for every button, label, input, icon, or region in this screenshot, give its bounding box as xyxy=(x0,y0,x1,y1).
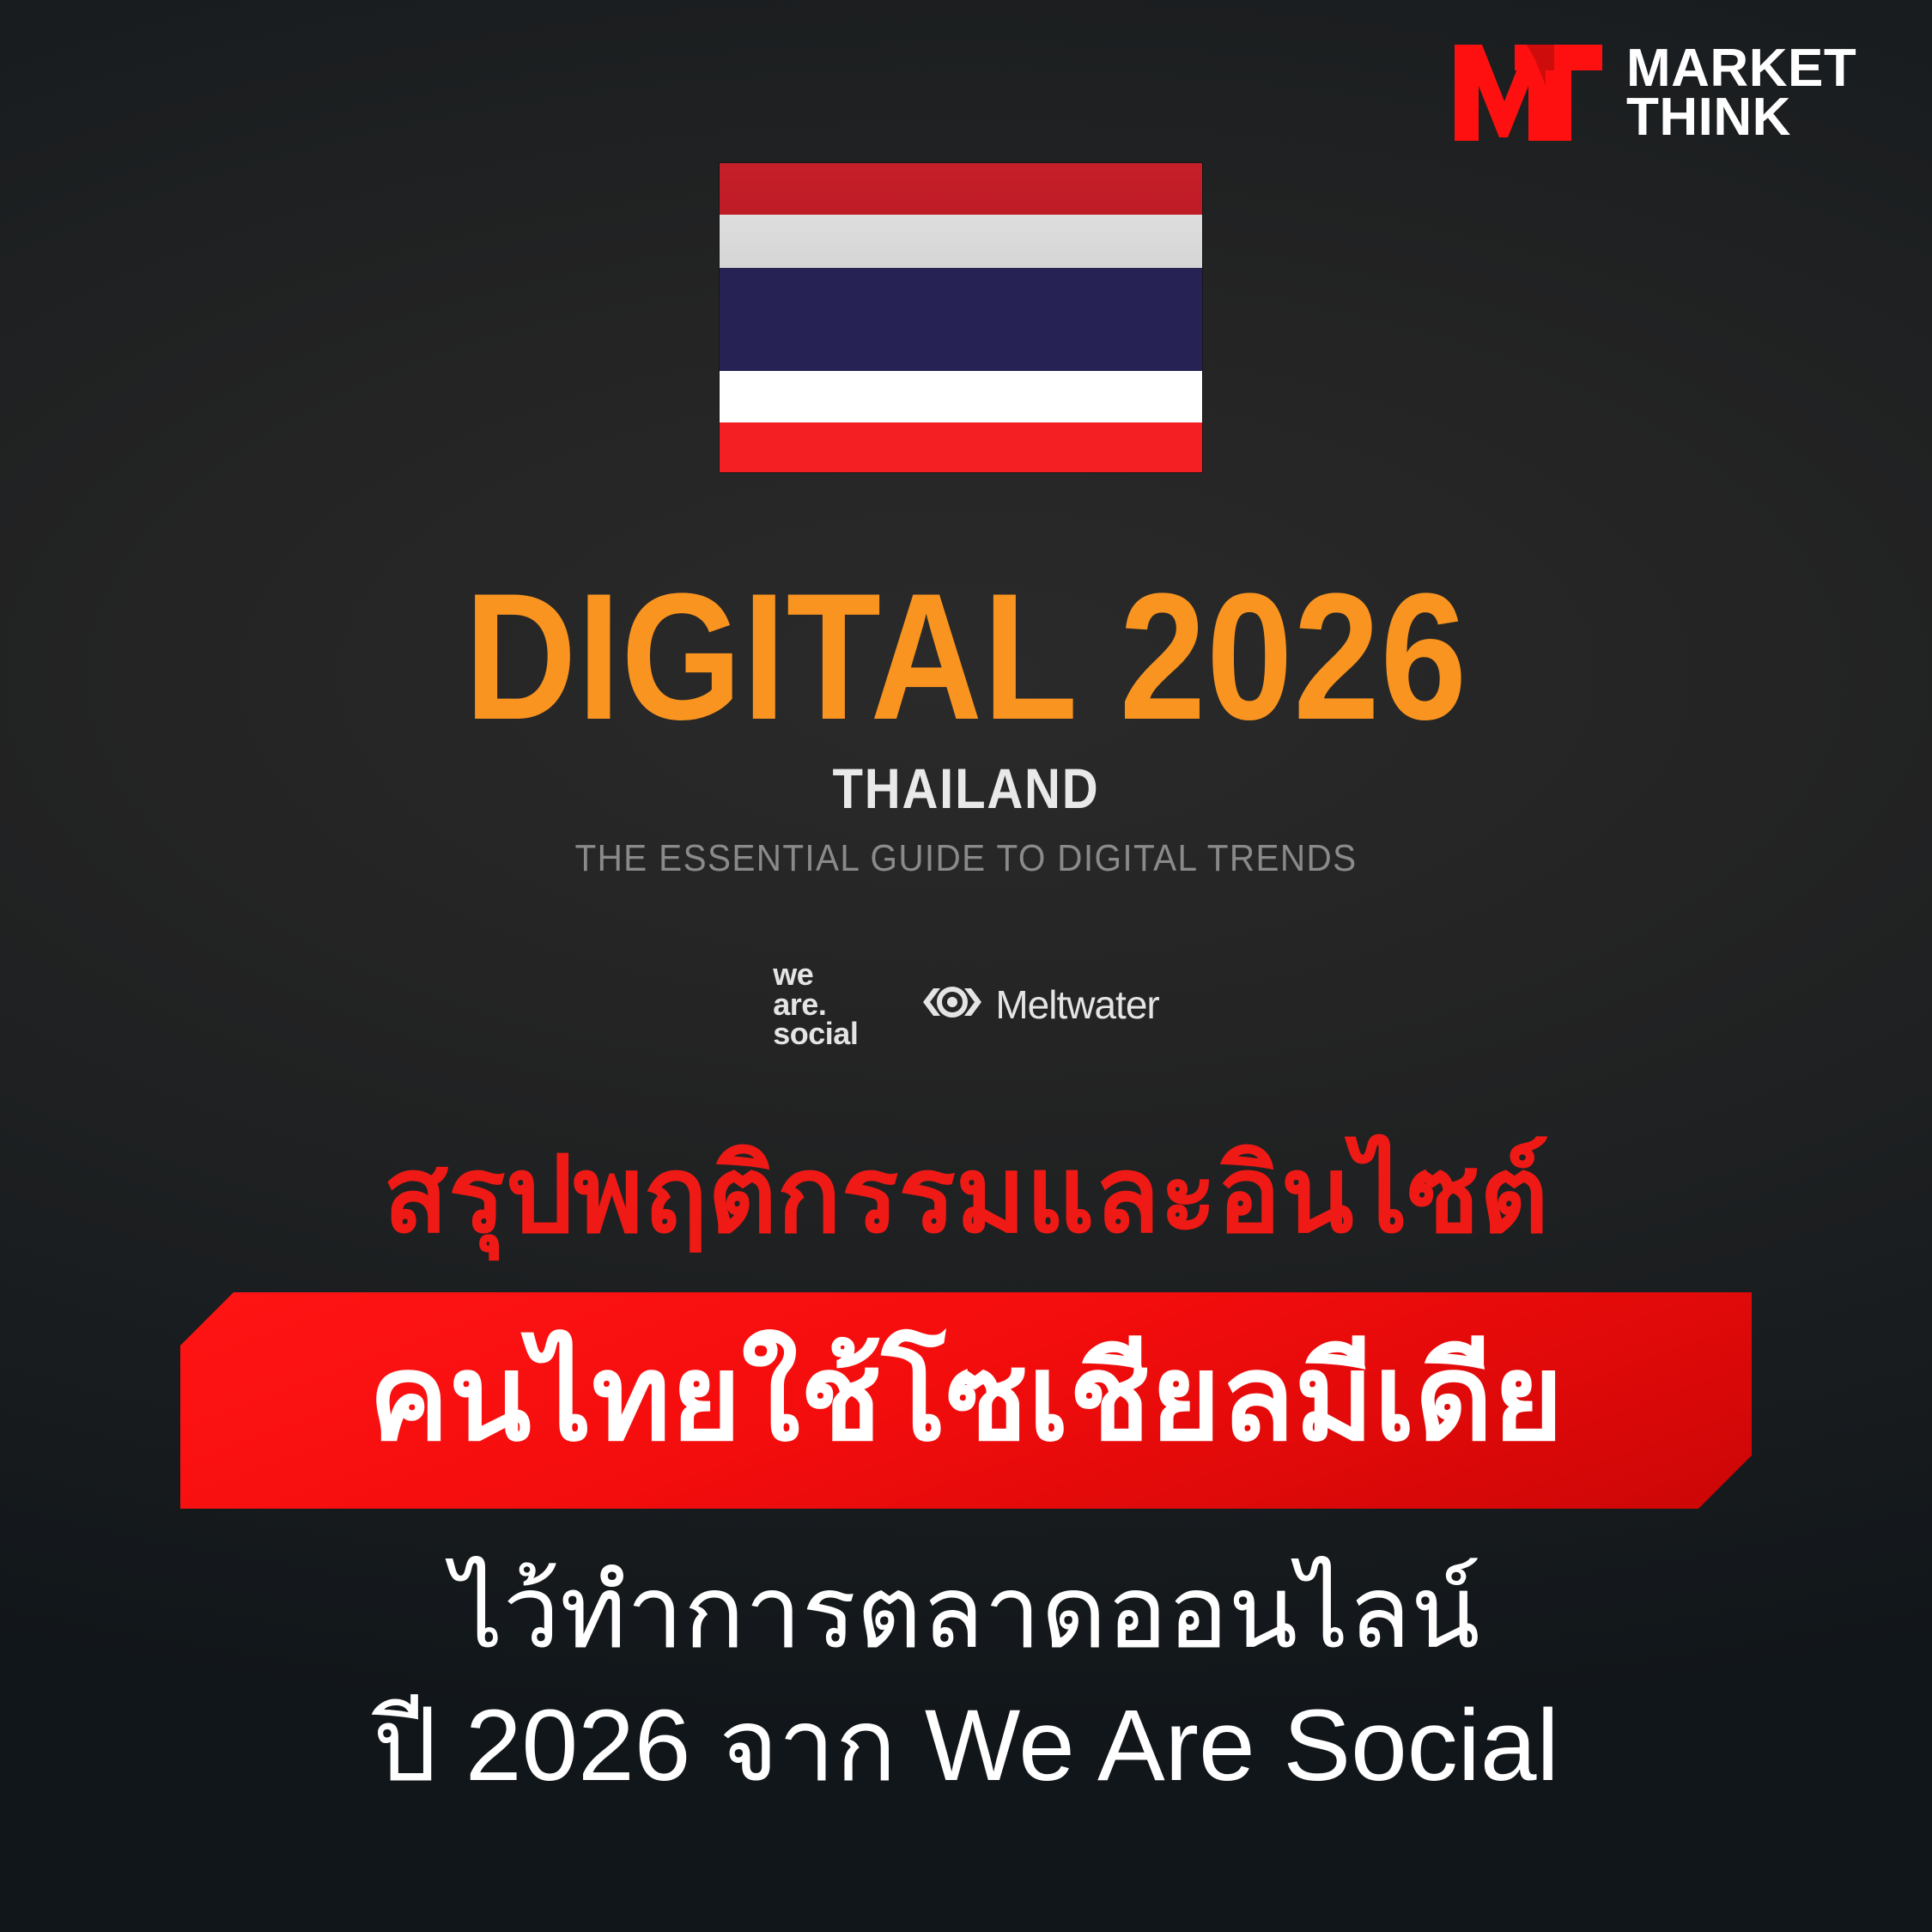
report-title: DIGITAL 2026 xyxy=(136,567,1797,747)
subheadline-line-2: ปี 2026 จาก We Are Social xyxy=(0,1683,1932,1810)
marketthink-logo: MARKET THINK xyxy=(1451,41,1856,144)
report-country: THAILAND xyxy=(116,756,1816,821)
we-are-social-logo: we are. social xyxy=(773,960,858,1049)
partner-logos-row: we are. social Meltwater xyxy=(0,960,1932,1049)
headline-red-line: สรุปพฤติกรรมและอินไซต์ xyxy=(0,1132,1932,1260)
flag-stripe-red-top xyxy=(720,163,1202,215)
was-line-2: are. xyxy=(773,990,858,1020)
flag-stripe-white-bottom xyxy=(720,371,1202,422)
marketthink-wordmark: MARKET THINK xyxy=(1626,44,1856,142)
brand-name-line-1: MARKET xyxy=(1626,44,1856,93)
flag-stripe-white-top xyxy=(720,215,1202,268)
flag-stripe-navy xyxy=(720,268,1202,371)
mt-monogram-icon xyxy=(1451,41,1606,144)
poster-canvas: MARKET THINK DIGITAL 2026 THAILAND THE E… xyxy=(0,0,1932,1932)
was-line-3: social xyxy=(773,1019,858,1049)
meltwater-eye-icon xyxy=(920,985,985,1024)
brand-name-line-2: THINK xyxy=(1626,93,1856,142)
meltwater-logo: Meltwater xyxy=(920,981,1158,1028)
meltwater-wordmark: Meltwater xyxy=(995,981,1158,1028)
flag-stripe-red-bottom xyxy=(720,422,1202,472)
banner-text: คนไทยใช้โซเชียลมีเดีย xyxy=(368,1338,1563,1463)
report-tagline: THE ESSENTIAL GUIDE TO DIGITAL TRENDS xyxy=(77,837,1855,880)
headline-red-banner: คนไทยใช้โซเชียลมีเดีย xyxy=(180,1292,1752,1509)
was-line-1: we xyxy=(773,960,858,990)
subheadline-line-1: ไว้ทำการตลาดออนไลน์ xyxy=(0,1550,1932,1677)
thailand-flag-icon xyxy=(720,163,1202,472)
